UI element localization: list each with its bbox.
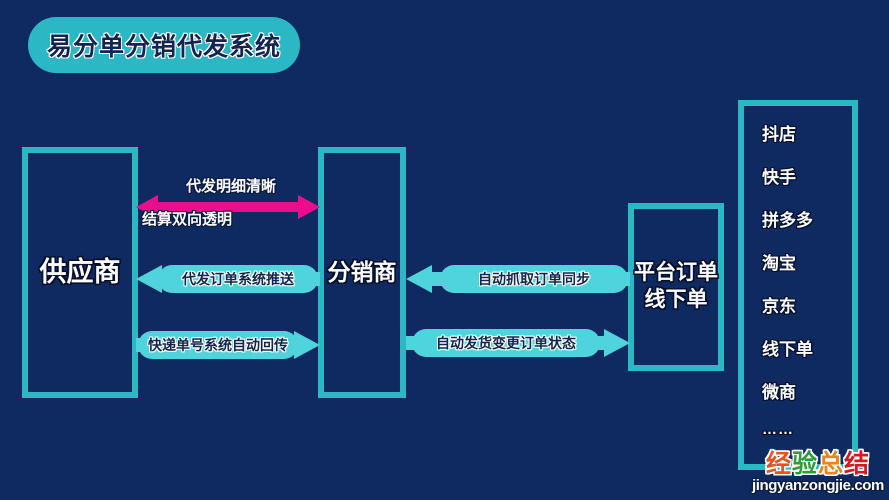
node-supplier-label: 供应商 xyxy=(40,255,121,290)
list-item: 拼多多 xyxy=(762,206,852,231)
node-platform-order: 平台订单 线下单 xyxy=(628,203,724,371)
page-title: 易分单分销代发系统 xyxy=(47,27,281,63)
flow-order-sync-label: 自动抓取订单同步 xyxy=(478,269,590,289)
node-platform-order-label: 平台订单 线下单 xyxy=(634,260,718,314)
watermark-cn: 经验总结 xyxy=(752,452,884,477)
flow-order-push-label: 代发订单系统推送 xyxy=(182,269,294,289)
node-distributor: 分销商 xyxy=(318,147,406,398)
flow-tracking-number-label: 快递单号系统自动回传 xyxy=(148,335,288,355)
diagram-canvas: 易分单分销代发系统 供应商 分销商 平台订单 线下单 抖店 快手 拼多多 淘宝 … xyxy=(0,0,889,500)
list-item: 微商 xyxy=(762,378,852,403)
flow-settlement-caption-top: 代发明细清晰 xyxy=(186,175,276,196)
flow-auto-ship-pill: 自动发货变更订单状态 xyxy=(412,329,600,357)
list-item: 快手 xyxy=(762,163,852,188)
node-supplier: 供应商 xyxy=(22,147,138,398)
flow-settlement-caption-bottom: 结算双向透明 xyxy=(142,208,232,229)
flow-auto-ship: 自动发货变更订单状态 xyxy=(406,326,630,360)
flow-order-sync: 自动抓取订单同步 xyxy=(406,262,630,296)
list-item: 抖店 xyxy=(762,120,852,145)
watermark-char-3: 总 xyxy=(818,450,844,478)
list-item-ellipsis: …… xyxy=(762,421,852,438)
watermark-url: jingyanzongjie.com xyxy=(752,478,884,493)
watermark-char-4: 结 xyxy=(844,450,870,478)
node-channel-list: 抖店 快手 拼多多 淘宝 京东 线下单 微商 …… xyxy=(738,100,858,470)
flow-tracking-number: 快递单号系统自动回传 xyxy=(136,328,320,362)
list-item: 线下单 xyxy=(762,335,852,360)
flow-order-sync-pill: 自动抓取订单同步 xyxy=(440,265,628,293)
flow-order-push: 代发订单系统推送 xyxy=(136,262,320,296)
flow-auto-ship-label: 自动发货变更订单状态 xyxy=(436,333,576,353)
channel-list: 抖店 快手 拼多多 淘宝 京东 线下单 微商 …… xyxy=(744,106,852,438)
flow-order-push-pill: 代发订单系统推送 xyxy=(158,265,318,293)
list-item: 淘宝 xyxy=(762,249,852,274)
title-banner: 易分单分销代发系统 xyxy=(28,17,300,73)
watermark: 经验总结 jingyanzongjie.com xyxy=(752,452,884,493)
list-item: 京东 xyxy=(762,292,852,317)
flow-tracking-number-pill: 快递单号系统自动回传 xyxy=(138,331,298,359)
watermark-char-1: 经 xyxy=(766,450,792,478)
watermark-char-2: 验 xyxy=(792,450,818,478)
node-distributor-label: 分销商 xyxy=(328,258,397,287)
